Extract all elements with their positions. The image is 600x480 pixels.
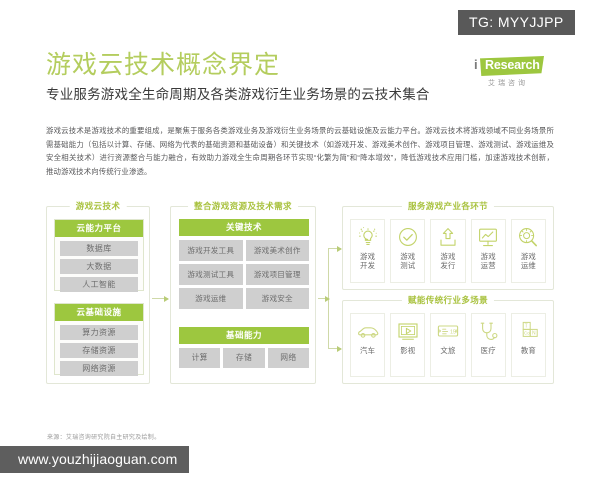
ticket-icon: 15 [435,319,461,345]
cell-game-operations: 游戏运维 [179,288,243,309]
car-icon [355,319,381,345]
logo-wordmark: Research [485,59,540,72]
source-note: 来源：艾瑞咨询研究院自主研究及绘制。 [47,432,160,441]
check-circle-icon [395,225,421,251]
cell-game-security: 游戏安全 [246,288,310,309]
group-body-cloud-infrastructure: 算力资源 存储资源 网络资源 [55,321,143,381]
grid-key-technology: 游戏开发工具 游戏美术创作 游戏测试工具 游戏项目管理 游戏运维 游戏安全 [179,240,309,309]
panel-title-left: 游戏云技术 [70,200,127,212]
stethoscope-icon [475,319,501,345]
grid-basic-capability: 计算 存储 网络 [179,348,309,368]
svg-text:N: N [532,330,536,336]
iresearch-logo: i Research 艾瑞咨询 [472,56,544,88]
card-game-development: 游戏 开发 [350,219,385,283]
panel-traditional-industries: 赋能传统行业多场景 汽车 影视 [342,300,554,384]
group-body-cloud-capability: 数据库 大数据 人工智能 [55,237,143,297]
cell-game-art-creation: 游戏美术创作 [246,240,310,261]
chart-monitor-icon [475,225,501,251]
infographic-diagram: 游戏云技术 云能力平台 数据库 大数据 人工智能 云基础设施 算力资源 存储资源… [46,202,554,390]
panel-title-traditional-industries: 赋能传统行业多场景 [402,294,494,306]
group-header-cloud-capability: 云能力平台 [55,220,143,237]
card-game-testing: 游戏 测试 [390,219,425,283]
logo-chinese-name: 艾瑞咨询 [472,78,544,88]
chip-ai: 人工智能 [60,277,138,292]
panel-industry-chain: 服务游戏产业各环节 游戏 开发 [342,206,554,290]
panel-title-middle: 整合游戏资源及技术需求 [188,200,298,212]
chip-compute-resource: 算力资源 [60,325,138,340]
card-label-culture-tourism: 文旅 [440,347,455,356]
card-education: T Co N 教育 [511,313,546,377]
cards-industry-chain: 游戏 开发 游戏 测试 游戏 发行 [343,207,553,289]
card-label-education: 教育 [521,347,536,356]
video-play-icon [395,319,421,345]
chip-network-resource: 网络资源 [60,361,138,376]
card-automotive: 汽车 [350,313,385,377]
card-label-game-publishing: 游戏 发行 [440,253,455,270]
block-header-basic-capability: 基础能力 [179,327,309,344]
card-label-game-maintenance: 游戏 运维 [521,253,536,270]
block-basic-capability: 基础能力 计算 存储 网络 [179,327,309,368]
card-label-healthcare: 医疗 [481,347,496,356]
idea-bulb-icon [355,225,381,251]
card-film-tv: 影视 [390,313,425,377]
arrow-middle-stem [318,298,329,299]
arrow-to-scenarios [328,348,341,349]
cell-storage: 存储 [223,348,264,368]
cell-compute: 计算 [179,348,220,368]
card-game-publishing: 游戏 发行 [430,219,465,283]
svg-text:Co: Co [524,330,530,335]
cell-game-project-management: 游戏项目管理 [246,264,310,285]
card-label-film-tv: 影视 [400,347,415,356]
card-label-game-testing: 游戏 测试 [400,253,415,270]
group-cloud-capability-platform: 云能力平台 数据库 大数据 人工智能 [54,219,144,291]
page-subtitle: 专业服务游戏全生命周期及各类游戏衍生业务场景的云技术集合 [46,86,552,104]
gear-magnifier-icon [515,225,541,251]
card-label-automotive: 汽车 [360,347,375,356]
card-game-operation: 游戏 运营 [471,219,506,283]
url-watermark: www.youzhijiaoguan.com [0,446,189,473]
card-game-maintenance: 游戏 运维 [511,219,546,283]
group-cloud-infrastructure: 云基础设施 算力资源 存储资源 网络资源 [54,303,144,375]
chip-database: 数据库 [60,241,138,256]
svg-text:T: T [525,323,528,329]
card-label-game-development: 游戏 开发 [360,253,375,270]
cell-game-test-tools: 游戏测试工具 [179,264,243,285]
chip-bigdata: 大数据 [60,259,138,274]
card-healthcare: 医疗 [471,313,506,377]
svg-text:15: 15 [450,329,456,335]
block-key-technology: 关键技术 游戏开发工具 游戏美术创作 游戏测试工具 游戏项目管理 游戏运维 游戏… [179,219,309,309]
panel-title-industry-chain: 服务游戏产业各环节 [402,200,494,212]
cell-network: 网络 [268,348,309,368]
body-paragraph: 游戏云技术是游戏技术的重要组成，是聚焦于服务各类游戏业务及游戏衍生业务场景的云基… [46,124,554,179]
cards-traditional-industries: 汽车 影视 15 文旅 [343,301,553,383]
slide-header: 游戏云技术概念界定 专业服务游戏全生命周期及各类游戏衍生业务场景的云技术集合 i… [46,50,552,104]
panel-resource-integration: 整合游戏资源及技术需求 关键技术 游戏开发工具 游戏美术创作 游戏测试工具 游戏… [170,206,316,384]
cell-game-dev-tools: 游戏开发工具 [179,240,243,261]
arrow-to-industry-chain [328,248,341,249]
logo-mark: i Research [472,56,544,77]
group-header-cloud-infrastructure: 云基础设施 [55,304,143,321]
tg-watermark: TG: MYYJJPP [458,10,575,35]
chip-storage-resource: 存储资源 [60,343,138,358]
logo-i-letter: i [474,58,478,71]
card-label-game-operation: 游戏 运营 [481,253,496,270]
upload-arrow-icon [435,225,461,251]
periodic-table-icon: T Co N [515,319,541,345]
arrow-left-to-middle [152,298,168,299]
block-header-key-technology: 关键技术 [179,219,309,236]
card-culture-tourism: 15 文旅 [430,313,465,377]
panel-game-cloud-tech: 游戏云技术 云能力平台 数据库 大数据 人工智能 云基础设施 算力资源 存储资源… [46,206,150,384]
